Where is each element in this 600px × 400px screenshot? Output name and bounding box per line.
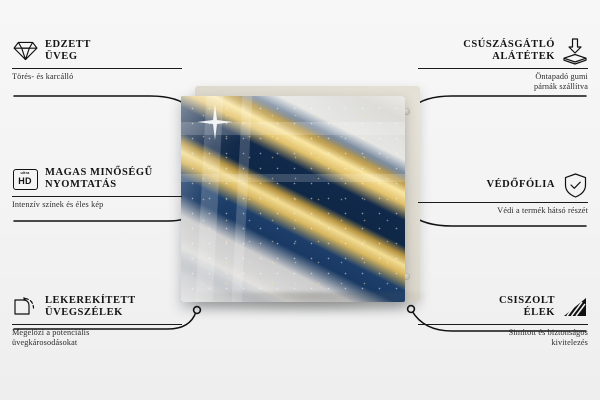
feature-anti-slip-pads: CSÚSZÁSGÁTLÓ ALÁTÉTEK Öntapadó gumi párn… xyxy=(418,38,588,92)
feature-sanded-edges: CSISZOLT ÉLEK Simított és biztonságos ki… xyxy=(418,294,588,348)
shield-check-icon xyxy=(562,172,588,198)
feature-divider xyxy=(418,324,588,325)
feature-title-line1: MAGAS MINŐSÉGŰ xyxy=(45,167,153,179)
feature-title-line1: EDZETT xyxy=(45,39,91,51)
feature-title-line1: CSISZOLT xyxy=(499,295,555,307)
press-down-pad-icon xyxy=(562,38,588,64)
feature-subtitle: Intenzív színek és éles kép xyxy=(12,200,182,210)
glass-sheen xyxy=(181,96,405,302)
feature-subtitle-line2: párnák szállítva xyxy=(418,82,588,92)
feature-high-quality-print: ultra HD MAGAS MINŐSÉGŰ NYOMTATÁS Intenz… xyxy=(12,166,182,210)
feature-protective-foil: VÉDŐFÓLIA Védi a termék hátsó részét xyxy=(418,172,588,216)
rounded-corner-icon xyxy=(12,294,38,320)
product-image xyxy=(181,86,420,308)
feature-rounded-glass-edges: LEKEREKÍTETT ÜVEGSZÉLEK Megelőzi a poten… xyxy=(12,294,182,348)
feature-title-line1: CSÚSZÁSGÁTLÓ xyxy=(463,39,555,51)
glass-panel xyxy=(181,96,405,302)
feature-divider xyxy=(418,68,588,69)
diamond-icon xyxy=(12,38,38,64)
feature-divider xyxy=(12,68,182,69)
infographic-canvas: EDZETT ÜVEG Törés- és karcálló ultra HD … xyxy=(0,0,600,400)
ultra-hd-icon: ultra HD xyxy=(12,166,38,192)
feature-subtitle-line1: Megelőzi a potenciális xyxy=(12,328,182,338)
feature-divider xyxy=(12,196,182,197)
connector-high-quality-print xyxy=(14,214,192,221)
connector-anti-slip-pads xyxy=(412,96,586,108)
feature-title-line1: VÉDŐFÓLIA xyxy=(486,179,555,191)
feature-divider xyxy=(418,202,588,203)
feature-subtitle-line1: Öntapadó gumi xyxy=(418,72,588,82)
feature-subtitle-line2: kivitelezés xyxy=(418,338,588,348)
hatched-triangle-icon xyxy=(562,294,588,320)
product-shadow xyxy=(197,292,425,314)
feature-title-line2: ALÁTÉTEK xyxy=(463,51,555,63)
feature-title-line1: LEKEREKÍTETT xyxy=(45,295,136,307)
feature-title-line2: NYOMTATÁS xyxy=(45,179,153,191)
feature-subtitle: Védi a termék hátsó részét xyxy=(418,206,588,216)
feature-title-line2: ÜVEGSZÉLEK xyxy=(45,307,136,319)
feature-title-line2: ÉLEK xyxy=(499,307,555,319)
feature-title-line2: ÜVEG xyxy=(45,51,91,63)
connector-tempered-glass xyxy=(14,96,190,108)
connector-protective-foil xyxy=(410,214,586,226)
feature-divider xyxy=(12,324,182,325)
feature-tempered-glass: EDZETT ÜVEG Törés- és karcálló xyxy=(12,38,182,82)
hd-label: HD xyxy=(18,177,31,186)
feature-subtitle: Törés- és karcálló xyxy=(12,72,182,82)
feature-subtitle-line1: Simított és biztonságos xyxy=(418,328,588,338)
feature-subtitle-line2: üvegkárosodásokat xyxy=(12,338,182,348)
